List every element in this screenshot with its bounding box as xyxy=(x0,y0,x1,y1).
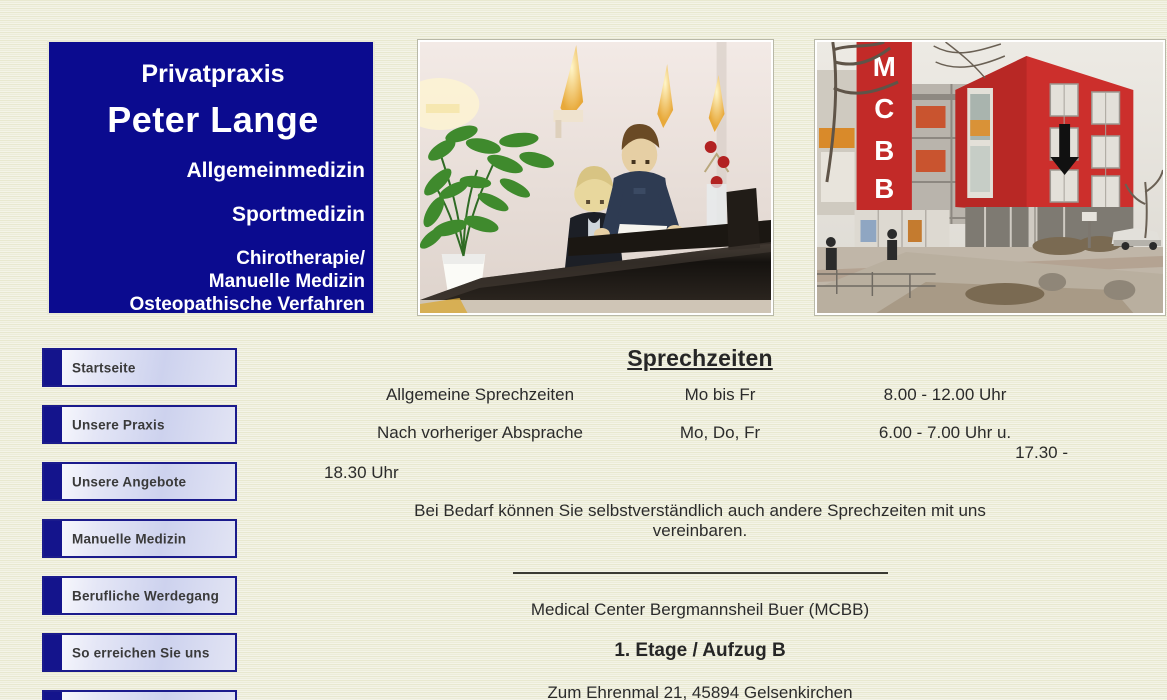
sidebar-item-label: Berufliche Werdegang xyxy=(72,588,219,603)
appointment-note: Bei Bedarf können Sie selbstverständlich… xyxy=(300,501,1100,542)
svg-text:C: C xyxy=(874,93,894,124)
specialty-label-1: Allgemeinmedizin xyxy=(59,159,367,183)
sidebar-item-beruflicher-werdegang[interactable]: Berufliche Werdegang xyxy=(42,576,237,615)
svg-text:B: B xyxy=(874,135,894,166)
specialty-label-3-line3: Osteopathische Verfahren xyxy=(59,293,365,315)
practice-logo-panel: Privatpraxis Peter Lange Allgemeinmedizi… xyxy=(47,40,375,315)
page-root: Privatpraxis Peter Lange Allgemeinmedizi… xyxy=(0,0,1167,700)
reception-photo-graphic xyxy=(420,42,771,313)
specialty-label-3: Chirotherapie/ Manuelle Medizin Osteopat… xyxy=(59,247,367,315)
page-title: Sprechzeiten xyxy=(300,345,1100,372)
sidebar-item-startseite[interactable]: Startseite xyxy=(42,348,237,387)
specialty-label-2: Sportmedizin xyxy=(59,203,367,227)
hours-time: 8.00 - 12.00 Uhr xyxy=(820,386,1070,403)
sidebar-item-label: So erreichen Sie uns xyxy=(72,645,210,660)
reception-photo xyxy=(418,40,773,315)
sidebar-item-partial[interactable] xyxy=(42,690,237,700)
svg-text:B: B xyxy=(874,173,894,204)
practice-type-label: Privatpraxis xyxy=(59,60,367,89)
office-hours-row: Allgemeine Sprechzeiten Mo bis Fr 8.00 -… xyxy=(300,386,1100,424)
sidebar-item-label: Manuelle Medizin xyxy=(72,531,186,546)
street-and-city: Zum Ehrenmal 21, 45894 Gelsenkirchen xyxy=(300,683,1100,700)
office-hours-row: Nach vorheriger Absprache Mo, Do, Fr 6.0… xyxy=(300,424,1100,462)
sidebar-item-label: Unsere Angebote xyxy=(72,474,186,489)
building-photo: M C B B xyxy=(815,40,1165,315)
medical-center-name: Medical Center Bergmannsheil Buer (MCBB) xyxy=(300,600,1100,620)
office-hours-table: Allgemeine Sprechzeiten Mo bis Fr 8.00 -… xyxy=(300,386,1100,481)
hours-description: Nach vorheriger Absprache xyxy=(330,424,630,441)
sidebar-item-label: Unsere Praxis xyxy=(72,417,165,432)
sidebar-item-manuelle-medizin[interactable]: Manuelle Medizin xyxy=(42,519,237,558)
hours-days: Mo bis Fr xyxy=(630,386,810,403)
sidebar-item-unsere-praxis[interactable]: Unsere Praxis xyxy=(42,405,237,444)
specialty-label-3-line2: Manuelle Medizin xyxy=(59,270,365,293)
building-photo-graphic: M C B B xyxy=(817,42,1163,313)
main-content: Sprechzeiten Allgemeine Sprechzeiten Mo … xyxy=(300,345,1100,700)
hours-days: Mo, Do, Fr xyxy=(630,424,810,441)
hours-description: Allgemeine Sprechzeiten xyxy=(330,386,630,403)
sidebar-navigation: Startseite Unsere Praxis Unsere Angebote… xyxy=(42,348,242,700)
sidebar-item-so-erreichen-sie-uns[interactable]: So erreichen Sie uns xyxy=(42,633,237,672)
specialty-label-3-line1: Chirotherapie/ xyxy=(59,247,365,270)
hours-time: 6.00 - 7.00 Uhr u. xyxy=(820,424,1070,441)
hours-time-wrap: 18.30 Uhr xyxy=(324,464,1100,481)
sidebar-item-label: Startseite xyxy=(72,360,136,375)
doctor-name-label: Peter Lange xyxy=(59,99,367,141)
sidebar-item-unsere-angebote[interactable]: Unsere Angebote xyxy=(42,462,237,501)
floor-and-elevator: 1. Etage / Aufzug B xyxy=(300,640,1100,662)
content-divider xyxy=(513,572,888,574)
header-band: Privatpraxis Peter Lange Allgemeinmedizi… xyxy=(0,0,1167,330)
